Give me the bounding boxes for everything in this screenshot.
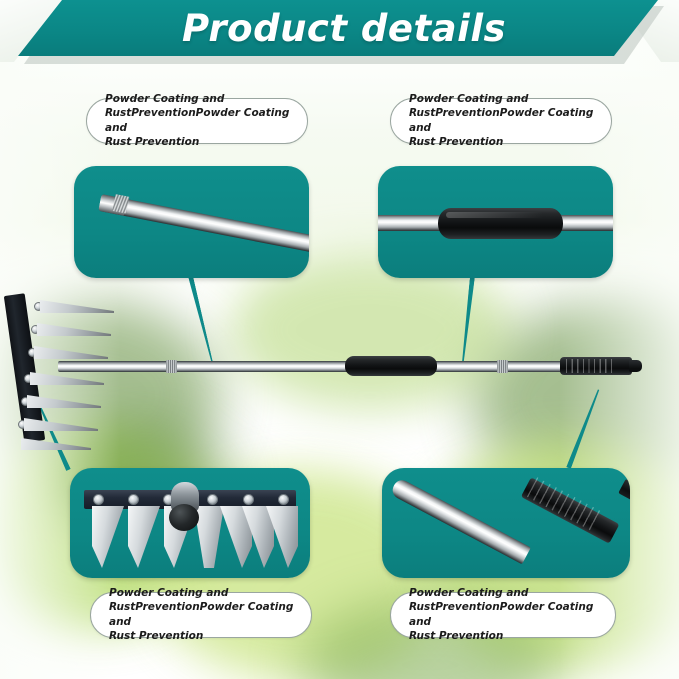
- rake-bolt: [278, 494, 289, 505]
- rake-tine: [27, 395, 101, 408]
- rubber-grip: [438, 208, 563, 239]
- pole-end-grip-ribs: [566, 359, 616, 373]
- rake-lock-knob: [169, 504, 199, 531]
- rake-tine: [128, 506, 160, 568]
- callout-pill-bottom-left: Powder Coating and RustPreventionPowder …: [90, 592, 312, 638]
- callout-pill-top-right: Powder Coating and RustPreventionPowder …: [390, 98, 612, 144]
- pole-mid-grip: [345, 356, 437, 376]
- callout-pill-bottom-right: Powder Coating and RustPreventionPowder …: [390, 592, 616, 638]
- callout-text-top-right: Powder Coating and RustPreventionPowder …: [409, 92, 595, 149]
- callout-pill-top-left: Powder Coating and RustPreventionPowder …: [86, 98, 308, 144]
- rake-bolt: [93, 494, 104, 505]
- rake-tine: [37, 323, 111, 336]
- hero-product: [0, 286, 679, 476]
- rake-bolt: [243, 494, 254, 505]
- rake-tine: [92, 506, 124, 568]
- callout-text-bottom-left: Powder Coating and RustPreventionPowder …: [109, 586, 295, 643]
- page-title: Product details: [182, 7, 506, 50]
- end-grip-tip: [618, 479, 630, 503]
- rake-pole: [58, 361, 618, 372]
- pole-end-tip: [629, 360, 642, 372]
- chrome-tube: [98, 194, 309, 258]
- callout-text-top-left: Powder Coating and RustPreventionPowder …: [105, 92, 291, 149]
- rake-tine: [34, 346, 108, 359]
- rake-tine: [21, 438, 91, 450]
- detail-panel-top-left: [74, 166, 309, 278]
- rake-bolt: [207, 494, 218, 505]
- rake-tine: [24, 418, 98, 431]
- product-details-infographic: Product details Powder Coating and: [0, 0, 679, 679]
- pole-collar-1: [166, 360, 177, 373]
- pole-collar-2: [497, 360, 508, 373]
- rake-tine: [30, 372, 104, 385]
- rake-bolt: [128, 494, 139, 505]
- detail-panel-bottom-right: [382, 468, 630, 578]
- rake-tine: [40, 300, 114, 313]
- header-bar: Product details: [18, 0, 658, 56]
- detail-panel-top-right: [378, 166, 613, 278]
- callout-text-bottom-right: Powder Coating and RustPreventionPowder …: [409, 586, 599, 643]
- header-banner: Product details: [0, 0, 679, 62]
- detail-panel-bottom-left: [70, 468, 310, 578]
- chrome-tube: [390, 477, 531, 564]
